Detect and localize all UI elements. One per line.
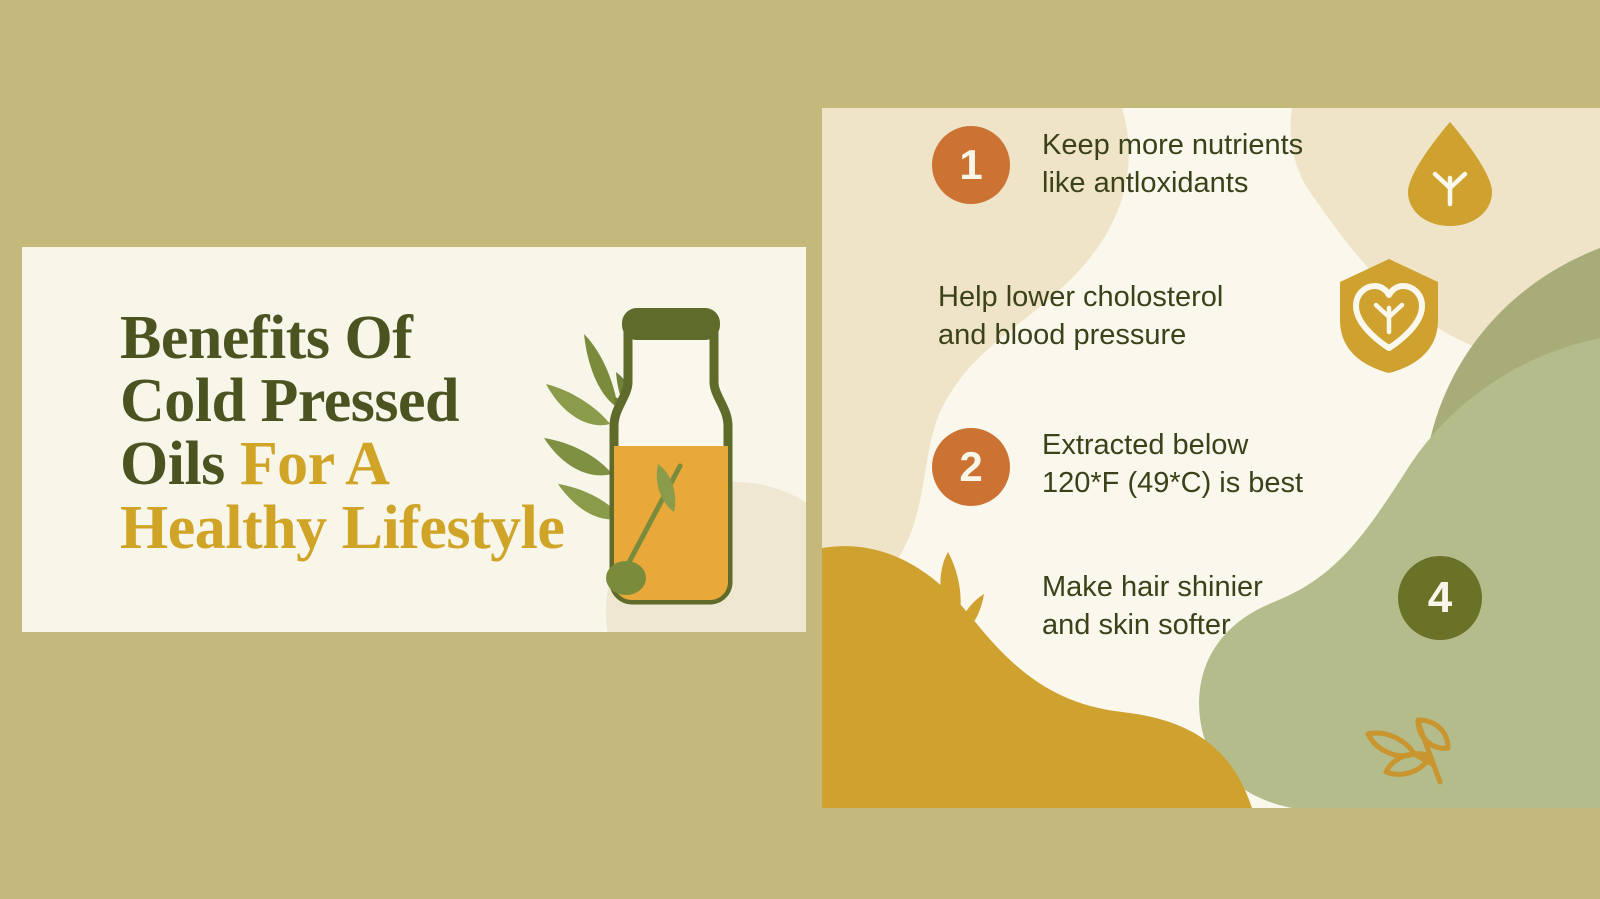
floating-badge-4: 4	[1398, 556, 1482, 640]
title-line-3-green: Oils	[120, 430, 240, 498]
oil-bottle-illustration	[530, 290, 760, 620]
oil-droplet-sprout-icon	[1402, 118, 1498, 228]
title-line-4: Healthy Lifestyle	[120, 497, 590, 560]
title-line-3: Oils For A	[120, 433, 590, 496]
title-line-3-gold: For A	[240, 430, 390, 498]
title-line-2: Cold Pressed	[120, 370, 590, 433]
bottle-cap	[622, 308, 720, 340]
infographic-canvas: Benefits Of Cold Pressed Oils For A Heal…	[0, 0, 1600, 899]
title-line-1: Benefits Of	[120, 307, 590, 370]
title-card: Benefits Of Cold Pressed Oils For A Heal…	[22, 247, 806, 632]
benefit-text-2: Help lower cholosterol and blood pressur…	[938, 278, 1328, 355]
benefit-text-1: Keep more nutrients like antloxidants	[1042, 126, 1402, 203]
shield-heart-sprout-icon	[1334, 256, 1444, 376]
benefit-text-3: Extracted below 120*F (49*C) is best	[1042, 426, 1402, 503]
benefits-card: 1 2 4 Keep more nutrients like antloxida…	[822, 108, 1600, 808]
benefit-badge-2: 2	[932, 428, 1010, 506]
benefit-text-4: Make hair shinier and skin softer	[1042, 568, 1372, 645]
leaf-flame-icon	[922, 546, 992, 656]
olive-branch-outline-icon	[1356, 706, 1466, 791]
olive-dot	[606, 561, 646, 595]
page-title: Benefits Of Cold Pressed Oils For A Heal…	[120, 307, 590, 560]
benefit-badge-1: 1	[932, 126, 1010, 204]
